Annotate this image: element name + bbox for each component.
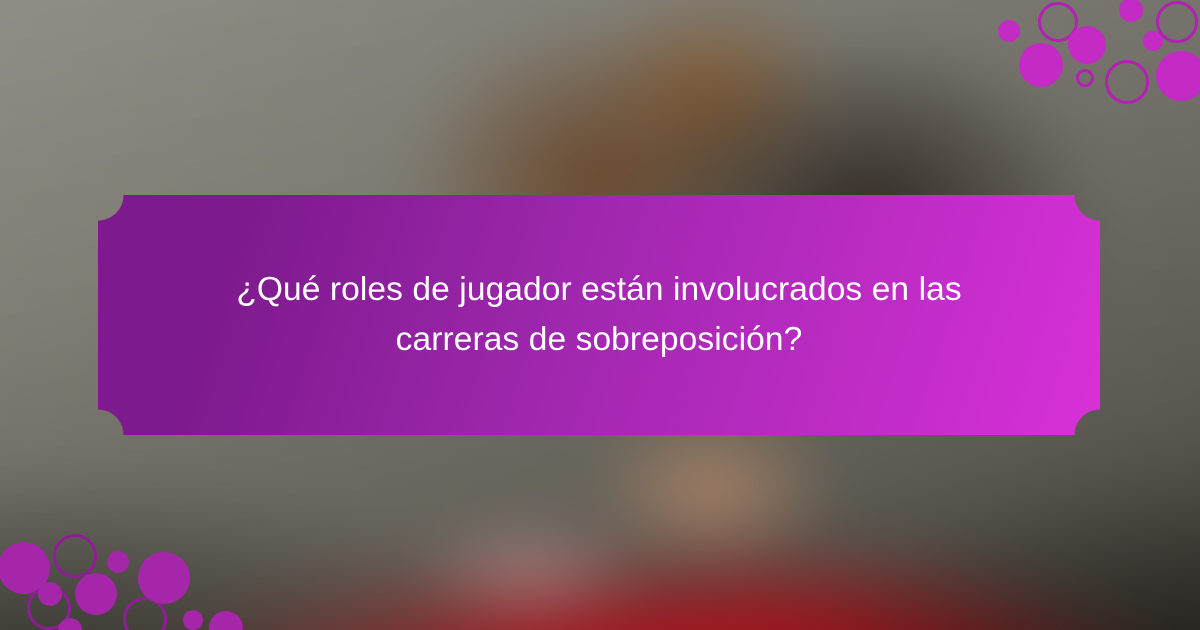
social-card-canvas: ¿Qué roles de jugador están involucrados… (0, 0, 1200, 630)
question-card-body: ¿Qué roles de jugador están involucrados… (98, 195, 1100, 435)
circle-filled (183, 610, 203, 630)
circle-filled (38, 582, 62, 606)
decorative-circles-bottom-left (0, 512, 250, 630)
decorative-circles-top-right (985, 0, 1200, 115)
circle-filled (1119, 0, 1143, 22)
circle-filled (1068, 26, 1106, 64)
question-card: ¿Qué roles de jugador están involucrados… (98, 195, 1100, 435)
circle-filled (138, 552, 190, 604)
circle-filled (75, 573, 117, 615)
circle-outline (53, 534, 97, 578)
question-headline: ¿Qué roles de jugador están involucrados… (219, 265, 979, 364)
circle-filled (998, 20, 1020, 42)
circle-filled (1156, 51, 1200, 101)
circle-filled (58, 618, 82, 630)
circle-filled (1019, 43, 1063, 87)
circle-filled (209, 611, 243, 630)
circle-outline (1076, 69, 1094, 87)
circle-outline (1156, 1, 1198, 43)
circle-filled (107, 551, 129, 573)
circle-outline (1105, 60, 1149, 104)
